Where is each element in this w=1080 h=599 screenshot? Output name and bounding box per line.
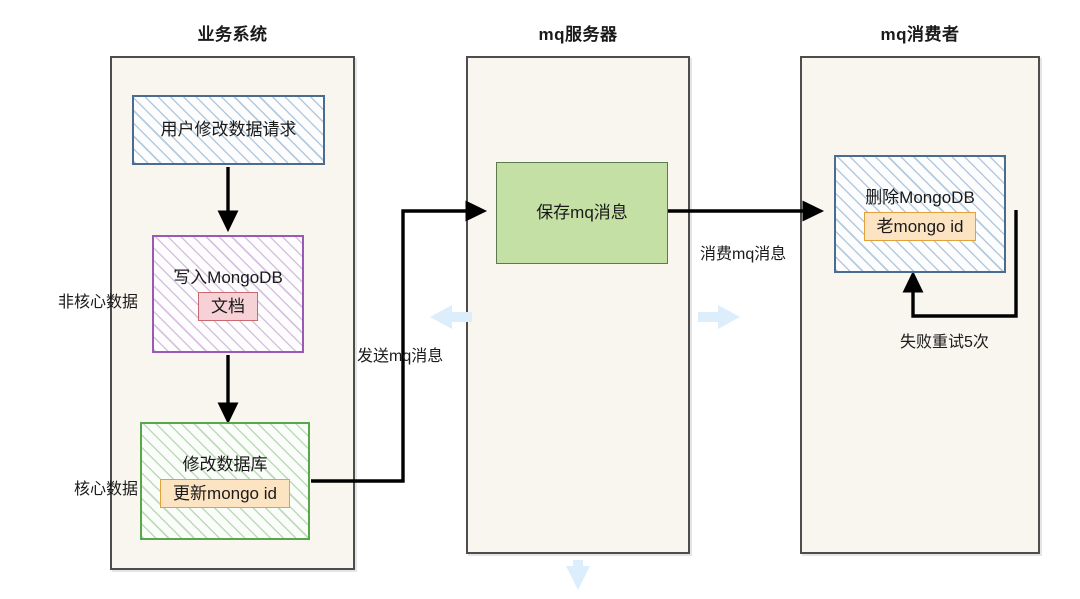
edge-label-retry: 失败重试5次 bbox=[900, 328, 989, 352]
node-save-mq-message-label: 保存mq消息 bbox=[536, 202, 628, 223]
node-user-request[interactable]: 用户修改数据请求 bbox=[132, 95, 325, 165]
arrow-down-icon bbox=[566, 560, 590, 590]
lane-title-mqconsumer: mq消费者 bbox=[800, 20, 1040, 45]
side-label-non-core: 非核心数据 bbox=[28, 288, 138, 312]
node-write-mongodb-label: 写入MongoDB bbox=[173, 267, 283, 288]
lane-title-business: 业务系统 bbox=[110, 20, 355, 45]
node-update-database-label: 修改数据库 bbox=[183, 454, 268, 475]
arrow-right-icon bbox=[698, 305, 740, 329]
node-delete-mongodb[interactable]: 删除MongoDB 老mongo id bbox=[834, 155, 1006, 273]
lane-title-mqserver: mq服务器 bbox=[466, 20, 690, 45]
edge-label-send-mq: 发送mq消息 bbox=[357, 342, 443, 366]
chip-old-mongo-id: 老mongo id bbox=[864, 212, 977, 241]
node-write-mongodb[interactable]: 写入MongoDB 文档 bbox=[152, 235, 304, 353]
chip-document: 文档 bbox=[198, 292, 258, 321]
node-save-mq-message[interactable]: 保存mq消息 bbox=[496, 162, 668, 264]
side-label-core: 核心数据 bbox=[44, 475, 138, 499]
diagram-canvas: 业务系统 mq服务器 mq消费者 非核心数据 核心数据 bbox=[0, 0, 1080, 599]
node-user-request-label: 用户修改数据请求 bbox=[161, 119, 297, 140]
chip-update-mongo-id: 更新mongo id bbox=[160, 479, 290, 508]
lane-mqconsumer bbox=[800, 56, 1040, 554]
node-update-database[interactable]: 修改数据库 更新mongo id bbox=[140, 422, 310, 540]
lane-mqserver bbox=[466, 56, 690, 554]
edge-label-consume-mq: 消费mq消息 bbox=[700, 240, 786, 264]
node-delete-mongodb-label: 删除MongoDB bbox=[865, 187, 975, 208]
